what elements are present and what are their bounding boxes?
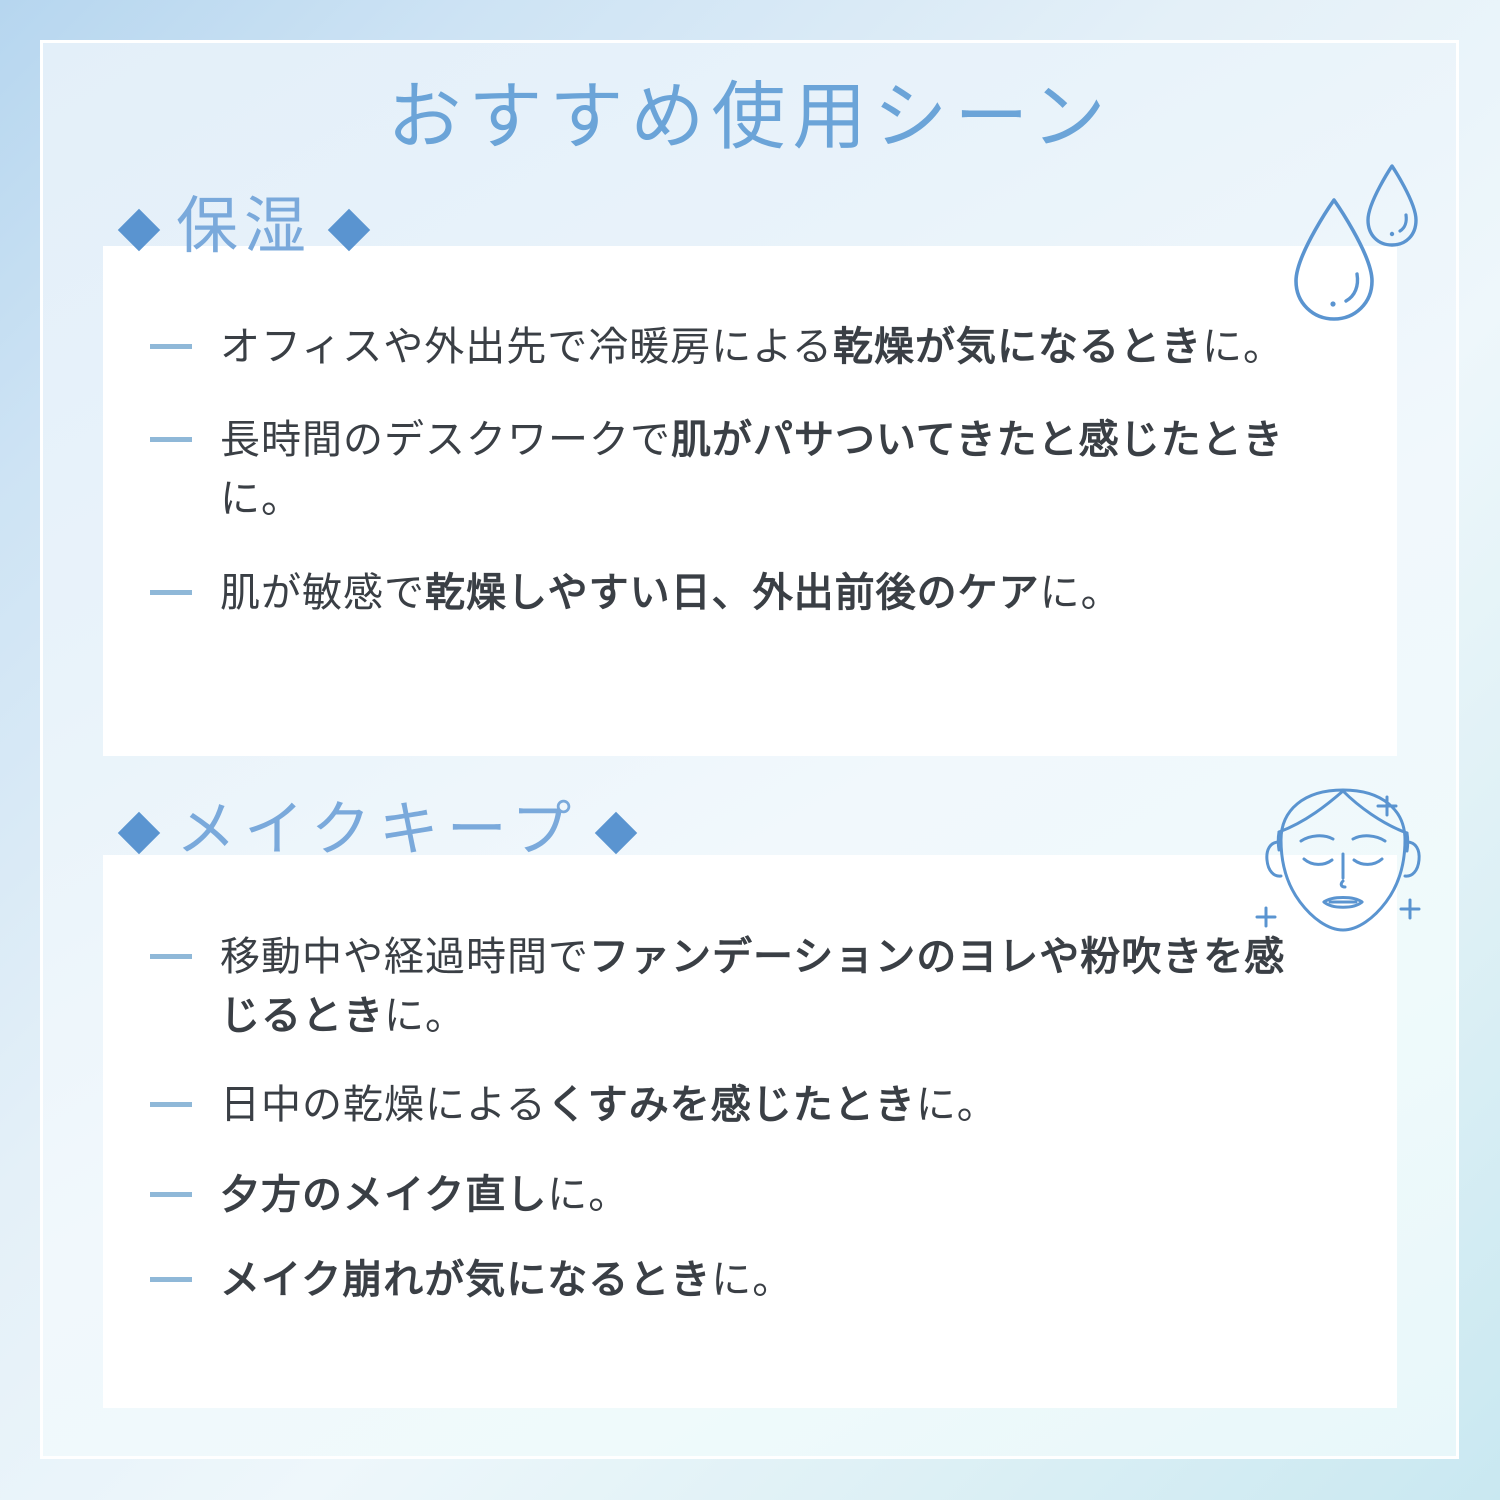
bullet-text: 夕方のメイク直しに。 [220,1166,629,1225]
bullet-dash-icon [150,590,192,595]
bullet-text: メイク崩れが気になるときに。 [220,1251,793,1310]
bullet-text-emphasis: 乾燥しやすい日、外出前後のケア [425,571,1040,615]
bullet-text-plain: 日中の乾燥による [220,1083,547,1127]
bullet-text-plain: に。 [547,1173,629,1217]
bullet-item: 長時間のデスクワークで肌がパサついてきたと感じたときに。 [150,411,1310,529]
bullet-text-emphasis: メイク崩れが気になるとき [220,1258,711,1302]
bullet-text-plain: に。 [220,477,302,521]
bullet-item: 夕方のメイク直しに。 [150,1166,1310,1225]
bullet-text-emphasis: 夕方のメイク直し [220,1173,547,1217]
bullet-item: メイク崩れが気になるときに。 [150,1251,1310,1310]
bullet-text-plain: に。 [1202,325,1284,369]
diamond-icon [595,812,637,854]
bullet-text-plain: 移動中や経過時間で [220,935,589,979]
bullet-text: 肌が敏感で乾燥しやすい日、外出前後のケアに。 [220,564,1122,623]
diamond-icon [118,209,160,251]
bullet-dash-icon [150,1277,192,1282]
bullet-dash-icon [150,1192,192,1197]
bullet-item: オフィスや外出先で冷暖房による乾燥が気になるときに。 [150,318,1310,377]
bullet-item: 日中の乾燥によるくすみを感じたときに。 [150,1076,1310,1135]
diamond-icon [328,209,370,251]
water-drops-icon [1288,158,1448,338]
bullet-text-emphasis: くすみを感じたとき [547,1083,916,1127]
bullet-dash-icon [150,344,192,349]
bullet-dash-icon [150,954,192,959]
bullet-text-plain: オフィスや外出先で冷暖房による [220,325,833,369]
bullet-text-plain: に。 [916,1083,998,1127]
page-title: おすすめ使用シーン [0,78,1500,159]
bullet-text: 日中の乾燥によるくすみを感じたときに。 [220,1076,998,1135]
section-heading-moisture: 保湿 [124,196,364,264]
bullet-text-plain: 長時間のデスクワークで [220,418,671,462]
section-heading-label: 保湿 [176,196,312,264]
bullet-item: 肌が敏感で乾燥しやすい日、外出前後のケアに。 [150,564,1310,623]
bullet-list-makeup-keep: 移動中や経過時間でファンデーションのヨレや粉吹きを感じるときに。日中の乾燥による… [150,928,1310,1336]
diamond-icon [118,812,160,854]
bullet-text-plain: に。 [384,994,466,1038]
section-heading-label: メイクキープ [176,800,579,866]
poster-root: おすすめ使用シーン 保湿 メイクキープ オフィスや外出先で冷暖房による乾燥が気に… [0,0,1500,1500]
bullet-text: 移動中や経過時間でファンデーションのヨレや粉吹きを感じるときに。 [220,928,1310,1046]
bullet-text: オフィスや外出先で冷暖房による乾燥が気になるときに。 [220,318,1284,377]
bullet-dash-icon [150,1102,192,1107]
bullet-dash-icon [150,437,192,442]
bullet-text-emphasis: 乾燥が気になるとき [833,325,1202,369]
bullet-text-plain: 肌が敏感で [220,571,425,615]
bullet-item: 移動中や経過時間でファンデーションのヨレや粉吹きを感じるときに。 [150,928,1310,1046]
bullet-text-plain: に。 [1040,571,1122,615]
bullet-list-moisture: オフィスや外出先で冷暖房による乾燥が気になるときに。長時間のデスクワークで肌がパ… [150,318,1310,657]
bullet-text-emphasis: 肌がパサついてきたと感じたとき [671,418,1284,462]
bullet-text: 長時間のデスクワークで肌がパサついてきたと感じたときに。 [220,411,1310,529]
bullet-text-plain: に。 [711,1258,793,1302]
face-icon [1248,778,1438,948]
section-heading-makeup-keep: メイクキープ [124,800,631,866]
